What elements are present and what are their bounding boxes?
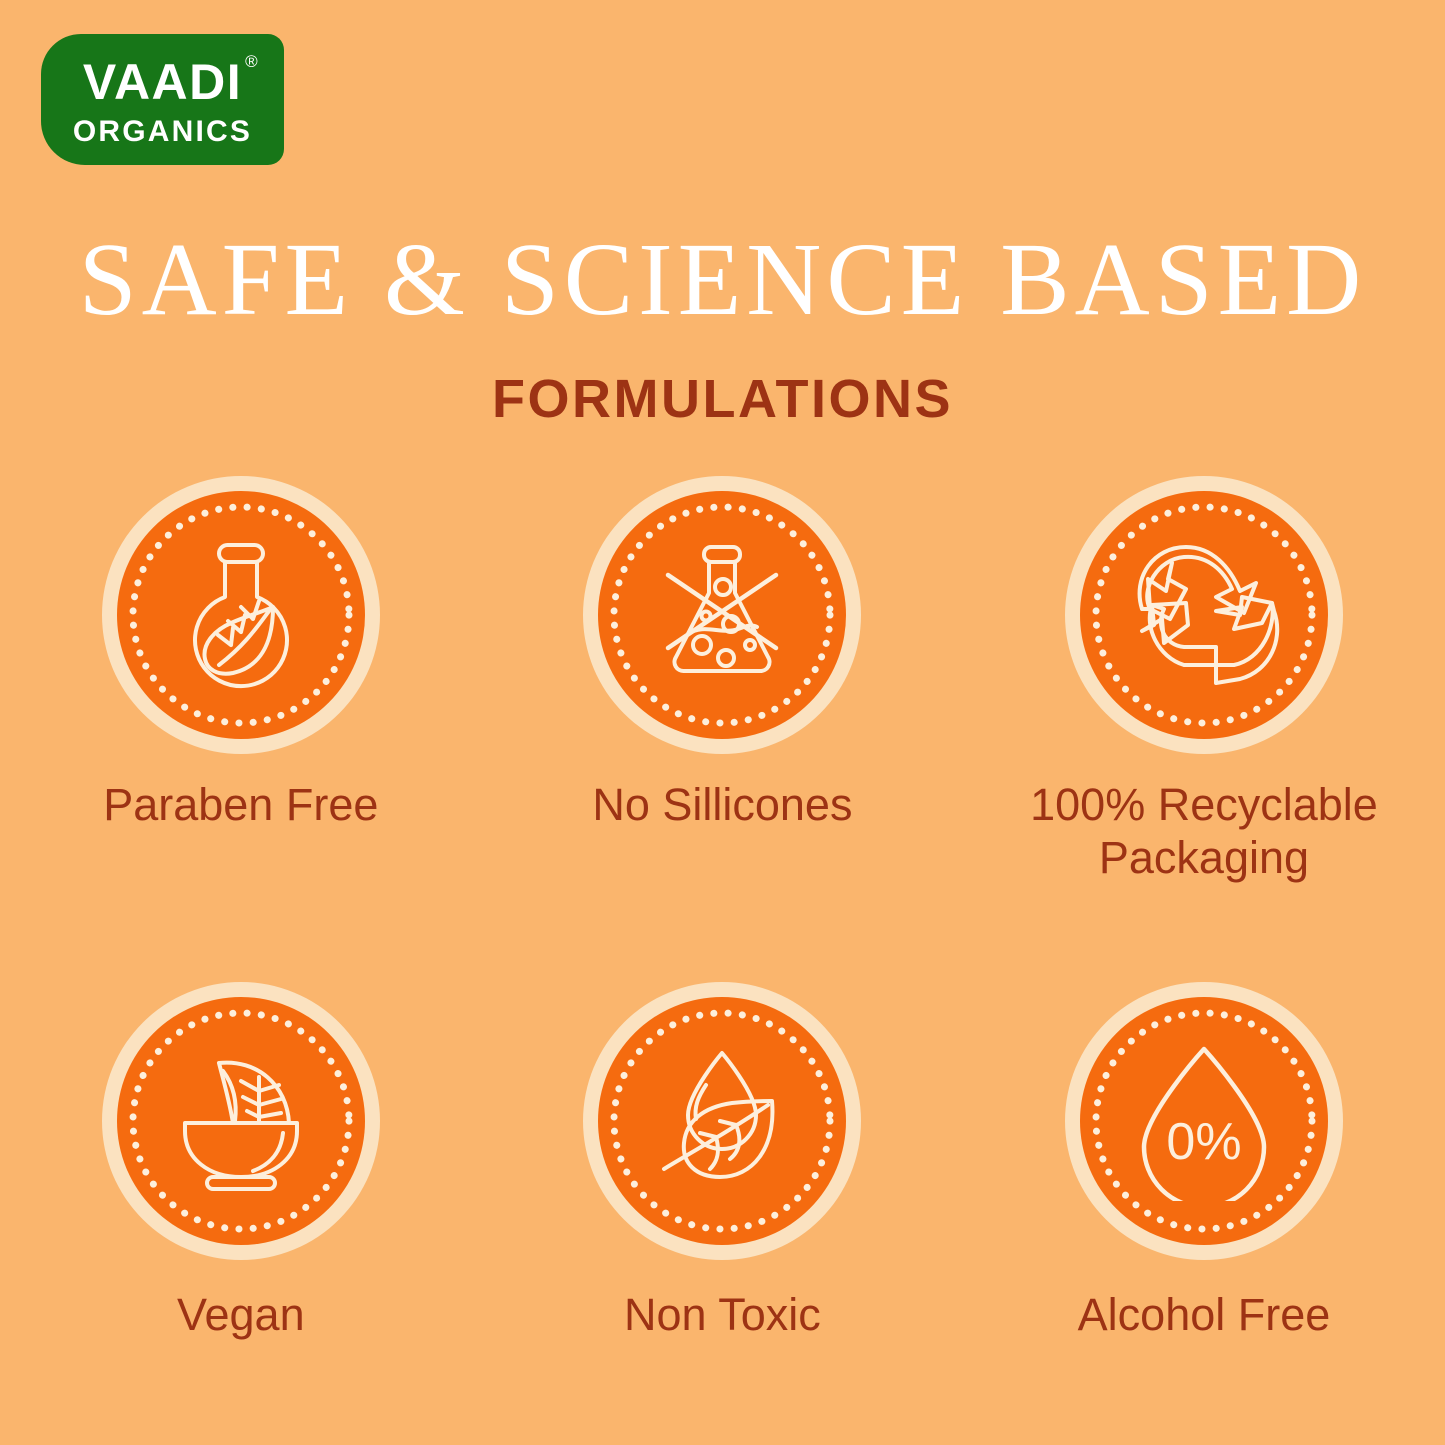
badge-inner-circle [1080, 491, 1328, 739]
feature-item-vegan: Vegan [0, 982, 482, 1341]
badge-inner-circle [117, 997, 365, 1245]
badge-inner-circle [598, 997, 846, 1245]
crossed-out-erlenmeyer-flask-icon [642, 535, 802, 695]
badge-inner-circle: 0% [1080, 997, 1328, 1245]
feature-badge [583, 476, 861, 754]
badge-inner-circle [598, 491, 846, 739]
droplet-zero-percent-icon: 0% [1124, 1041, 1284, 1201]
recycling-arrows-icon [1124, 535, 1284, 695]
feature-item-paraben-free: Paraben Free [0, 476, 482, 884]
feature-label: Vegan [177, 1288, 305, 1341]
registered-trademark-icon: ® [245, 53, 259, 70]
droplet-with-leaf-icon [642, 1041, 802, 1201]
feature-item-alcohol-free: 0% Alcohol Free [963, 982, 1445, 1341]
feature-label: 100% RecyclablePackaging [1030, 778, 1378, 884]
feature-item-no-sillicones: No Sillicones [482, 476, 964, 884]
feature-label: Paraben Free [103, 778, 378, 831]
feature-badge [102, 982, 380, 1260]
badge-inner-circle [117, 491, 365, 739]
bowl-with-leaf-icon [161, 1041, 321, 1201]
feature-label-line: Packaging [1099, 832, 1309, 883]
flask-with-leaf-icon [161, 535, 321, 695]
feature-badge: 0% [1065, 982, 1343, 1260]
feature-badge [1065, 476, 1343, 754]
brand-tagline: ORGANICS [73, 117, 252, 147]
brand-name-text: VAADI [83, 54, 242, 110]
feature-row: Vegan [0, 982, 1445, 1341]
feature-label: Alcohol Free [1078, 1288, 1331, 1341]
page-subtitle: FORMULATIONS [0, 372, 1445, 426]
brand-logo: VAADI® ORGANICS [41, 34, 284, 165]
feature-label: No Sillicones [592, 778, 852, 831]
feature-badge [583, 982, 861, 1260]
feature-row: Paraben Free [0, 476, 1445, 884]
feature-item-non-toxic: Non Toxic [482, 982, 964, 1341]
feature-label: Non Toxic [624, 1288, 821, 1341]
feature-badge [102, 476, 380, 754]
page-title: SAFE & SCIENCE BASED [0, 228, 1445, 332]
feature-grid: Paraben Free [0, 476, 1445, 1341]
brand-name: VAADI® [83, 57, 242, 107]
feature-item-recyclable-packaging: 100% RecyclablePackaging [963, 476, 1445, 884]
droplet-value-text: 0% [1166, 1113, 1241, 1171]
feature-label-line: 100% Recyclable [1030, 779, 1378, 830]
